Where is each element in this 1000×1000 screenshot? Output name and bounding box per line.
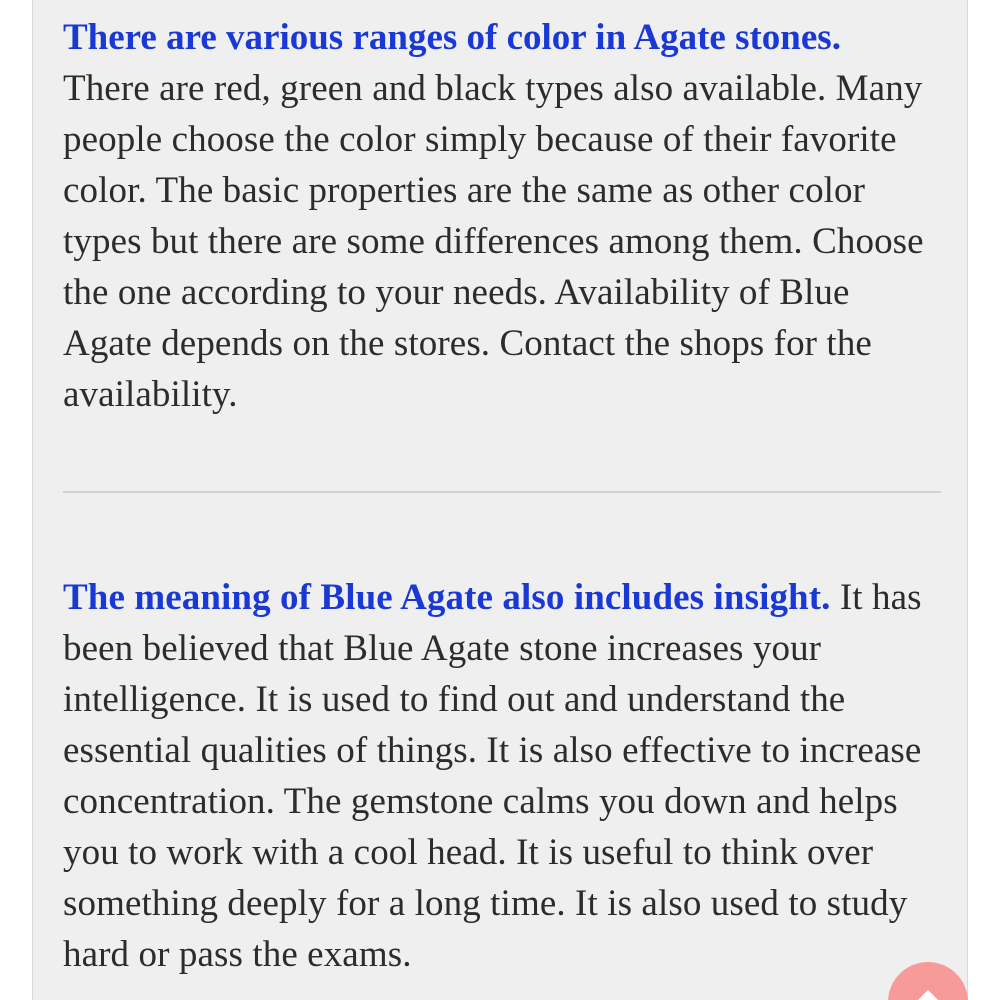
section-divider bbox=[63, 491, 941, 493]
article-section-2: The meaning of Blue Agate also includes … bbox=[63, 572, 943, 980]
article-section-1: There are various ranges of color in Aga… bbox=[63, 12, 943, 420]
section-1-body: There are red, green and black types als… bbox=[63, 63, 943, 420]
section-2-heading: The meaning of Blue Agate also includes … bbox=[63, 577, 831, 618]
page-root: There are various ranges of color in Aga… bbox=[0, 0, 1000, 1000]
arrow-up-icon bbox=[905, 984, 951, 1000]
section-1-heading: There are various ranges of color in Aga… bbox=[63, 12, 943, 63]
section-2-paragraph: The meaning of Blue Agate also includes … bbox=[63, 572, 943, 980]
section-2-body: It has been believed that Blue Agate sto… bbox=[63, 577, 922, 975]
article-column: There are various ranges of color in Aga… bbox=[32, 0, 968, 1000]
